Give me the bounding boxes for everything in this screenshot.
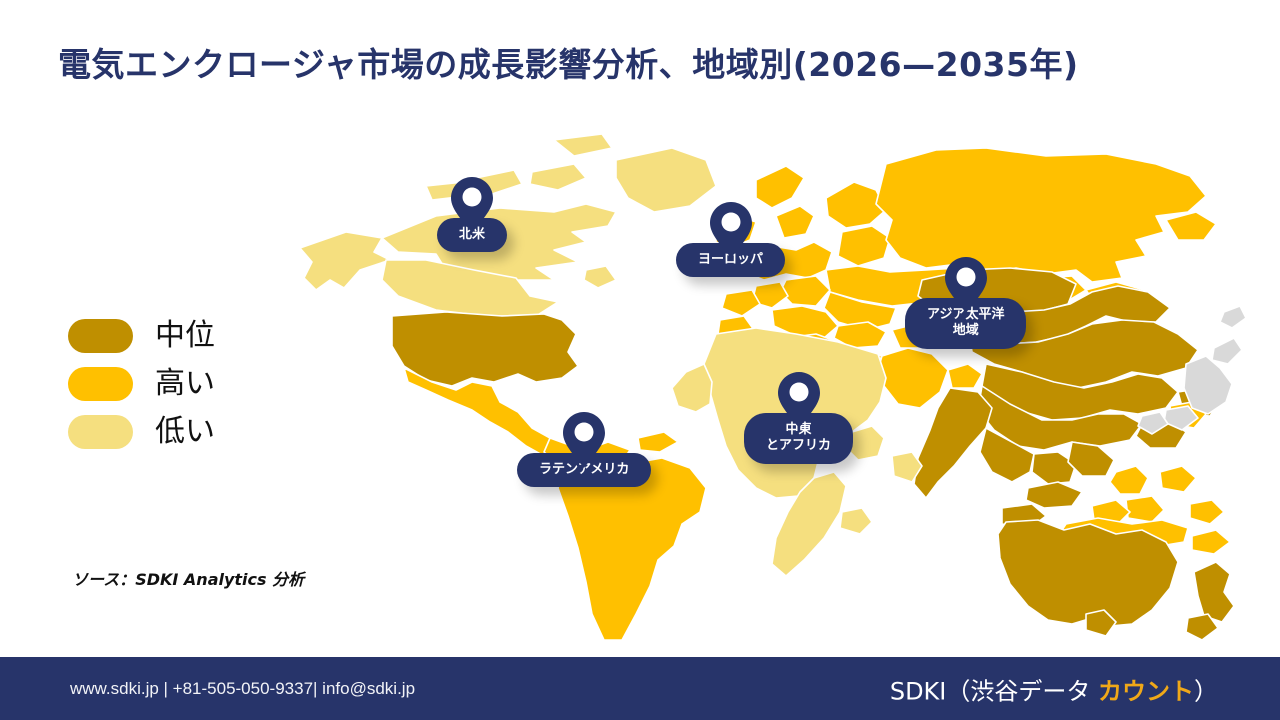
map-pin-middle-east-africa[interactable]: 中東 とアフリカ	[744, 371, 853, 464]
location-pin-icon	[944, 256, 988, 314]
region-low-north	[300, 134, 716, 316]
legend-swatch-low	[68, 415, 133, 449]
brand-suffix: ）	[1194, 677, 1218, 705]
infographic-page: 電気エンクロージャ市場の成長影響分析、地域別(2026—2035年) 中位 高い…	[0, 0, 1280, 720]
page-title: 電気エンクロージャ市場の成長影響分析、地域別(2026—2035年)	[58, 38, 1238, 86]
region-medium-usa	[392, 312, 578, 386]
location-pin-icon	[562, 411, 606, 469]
footer-contact-info[interactable]: www.sdki.jp | +81-505-050-9337| info@sdk…	[70, 679, 415, 699]
legend-item-medium: 中位	[68, 312, 215, 359]
map-pin-asia-pacific[interactable]: アジア太平洋 地域	[905, 256, 1026, 349]
map-pin-europe[interactable]: ヨーロッパ	[676, 201, 785, 277]
legend-label-high: 高い	[155, 369, 215, 399]
legend-label-medium: 中位	[155, 321, 215, 351]
legend-swatch-medium	[68, 319, 133, 353]
map-pin-north-america[interactable]: 北米	[437, 176, 507, 252]
footer-bar: www.sdki.jp | +81-505-050-9337| info@sdk…	[0, 657, 1280, 720]
legend: 中位 高い 低い	[68, 312, 215, 456]
location-pin-icon	[450, 176, 494, 234]
legend-item-low: 低い	[68, 408, 215, 455]
brand-prefix: SDKI（渋谷データ	[890, 677, 1098, 705]
brand-accent: カウント	[1098, 677, 1194, 705]
location-pin-icon	[709, 201, 753, 259]
region-high-latam	[404, 368, 706, 640]
footer-brand: SDKI（渋谷データ カウント）	[890, 671, 1218, 706]
map-pin-latin-america[interactable]: ラテンアメリカ	[517, 411, 651, 487]
location-pin-icon	[777, 371, 821, 429]
legend-label-low: 低い	[155, 417, 215, 447]
legend-item-high: 高い	[68, 360, 215, 407]
source-note: ソース：SDKI Analytics 分析	[72, 566, 304, 590]
legend-swatch-high	[68, 367, 133, 401]
